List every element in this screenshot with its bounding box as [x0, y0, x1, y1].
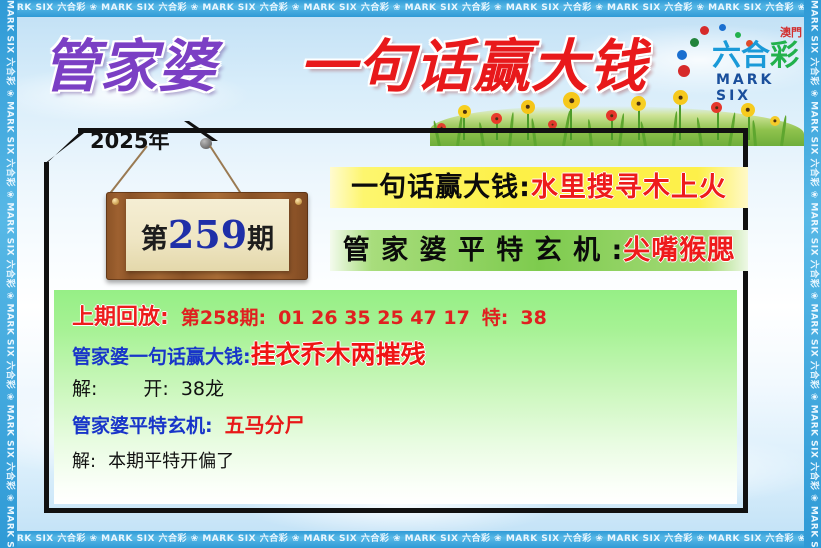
- logo-dot-red: [700, 26, 709, 35]
- flower-yellow: [673, 90, 688, 105]
- issue-suffix: 期: [247, 224, 274, 255]
- logo-name-en: MARK SIX: [716, 72, 804, 104]
- border-top: MARK SIX 六合彩 ❀ MARK SIX 六合彩 ❀ MARK SIX 六…: [0, 0, 821, 17]
- issue-prefix: 第: [141, 224, 168, 255]
- border-top-text: MARK SIX 六合彩 ❀ MARK SIX 六合彩 ❀ MARK SIX 六…: [0, 3, 821, 13]
- secret-value: 五马分尸: [225, 413, 305, 437]
- logo-dot-blue: [719, 24, 726, 31]
- title-brand: 管家婆: [42, 33, 216, 101]
- secret-line: 管家婆平特玄机:五马分尸: [72, 409, 305, 438]
- plaque-screw-left: [112, 198, 119, 205]
- phrase-answer-open-label: 开:: [143, 378, 168, 400]
- flower-yellow: [458, 105, 471, 118]
- border-bottom-text: MARK SIX 六合彩 ❀ MARK SIX 六合彩 ❀ MARK SIX 六…: [0, 534, 821, 544]
- issue-number: 259: [168, 212, 247, 257]
- secret-label: 管家婆平特玄机:: [72, 415, 213, 437]
- secret-answer-value: 本期平特开偏了: [108, 451, 234, 472]
- banner-phrase-label: 一句话赢大钱:: [351, 172, 531, 203]
- replay-numbers: 01 26 35 25 47 17: [278, 307, 470, 329]
- plaque-cord-left: [108, 146, 147, 196]
- lottery-poster: 管家婆 一句话赢大钱 澳門 六合彩 MARK SIX 2025年 第259期: [0, 0, 821, 548]
- border-right-text: MARK SIX 六合彩 ❀ MARK SIX 六合彩 ❀ MARK SIX 六…: [804, 0, 821, 548]
- replay-special-label: 特:: [482, 307, 509, 329]
- issue-text: 第259期: [126, 199, 289, 271]
- replay-label: 上期回放:: [72, 305, 169, 330]
- banner-phrase-value: 水里搜寻木上火: [531, 172, 727, 203]
- logo-dot-blue: [677, 50, 687, 60]
- logo-dot-green: [690, 38, 699, 47]
- phrase-answer-label: 解:: [72, 378, 97, 400]
- banner-secret-label: 管 家 婆 平 特 玄 机 :: [343, 235, 624, 266]
- plaque-board: 第259期: [106, 192, 308, 280]
- logo-char-3: 彩: [770, 38, 799, 72]
- plaque-cord-right: [209, 146, 244, 199]
- mark-six-logo: 澳門 六合彩 MARK SIX: [672, 24, 804, 90]
- logo-name-cn: 六合彩: [712, 39, 799, 71]
- banner-secret: 管 家 婆 平 特 玄 机 :尖嘴猴腮: [330, 230, 748, 271]
- secret-answer-label: 解:: [72, 451, 96, 472]
- phrase-answer-value: 38龙: [181, 378, 224, 400]
- poster-title: 管家婆 一句话赢大钱: [42, 33, 662, 103]
- logo-char-1: 六: [712, 38, 741, 72]
- phrase-value: 挂衣乔木两摧残: [251, 340, 426, 369]
- phrase-answer-line: 解:开:38龙: [72, 374, 224, 401]
- plaque-paper: 第259期: [126, 199, 289, 271]
- info-panel: 上期回放:第258期:01 26 35 25 47 17特:38 管家婆一句话赢…: [54, 290, 737, 504]
- flower-yellow: [741, 103, 755, 117]
- replay-line: 上期回放:第258期:01 26 35 25 47 17特:38: [72, 299, 547, 331]
- border-left: MARK SIX 六合彩 ❀ MARK SIX 六合彩 ❀ MARK SIX 六…: [0, 0, 17, 548]
- replay-special-number: 38: [520, 307, 546, 329]
- secret-answer-line: 解:本期平特开偏了: [72, 447, 234, 473]
- flower-stem: [748, 114, 750, 140]
- flower-red: [491, 113, 502, 124]
- phrase-label: 管家婆一句话赢大钱:: [72, 346, 251, 368]
- border-right: MARK SIX 六合彩 ❀ MARK SIX 六合彩 ❀ MARK SIX 六…: [804, 0, 821, 548]
- border-bottom: MARK SIX 六合彩 ❀ MARK SIX 六合彩 ❀ MARK SIX 六…: [0, 531, 821, 548]
- logo-dot-red: [678, 65, 690, 77]
- logo-char-2: 合: [741, 38, 770, 72]
- border-left-text: MARK SIX 六合彩 ❀ MARK SIX 六合彩 ❀ MARK SIX 六…: [0, 0, 17, 548]
- flower-yellow: [770, 116, 780, 126]
- banner-secret-value: 尖嘴猴腮: [623, 235, 735, 266]
- flower-red: [606, 110, 617, 121]
- plaque-screw-right: [295, 198, 302, 205]
- phrase-line: 管家婆一句话赢大钱:挂衣乔木两摧残: [72, 335, 426, 371]
- banner-phrase: 一句话赢大钱:水里搜寻木上火: [330, 167, 748, 208]
- title-slogan: 一句话赢大钱: [299, 33, 647, 101]
- replay-issue: 第258期:: [181, 307, 266, 329]
- issue-plaque: 第259期: [96, 138, 316, 283]
